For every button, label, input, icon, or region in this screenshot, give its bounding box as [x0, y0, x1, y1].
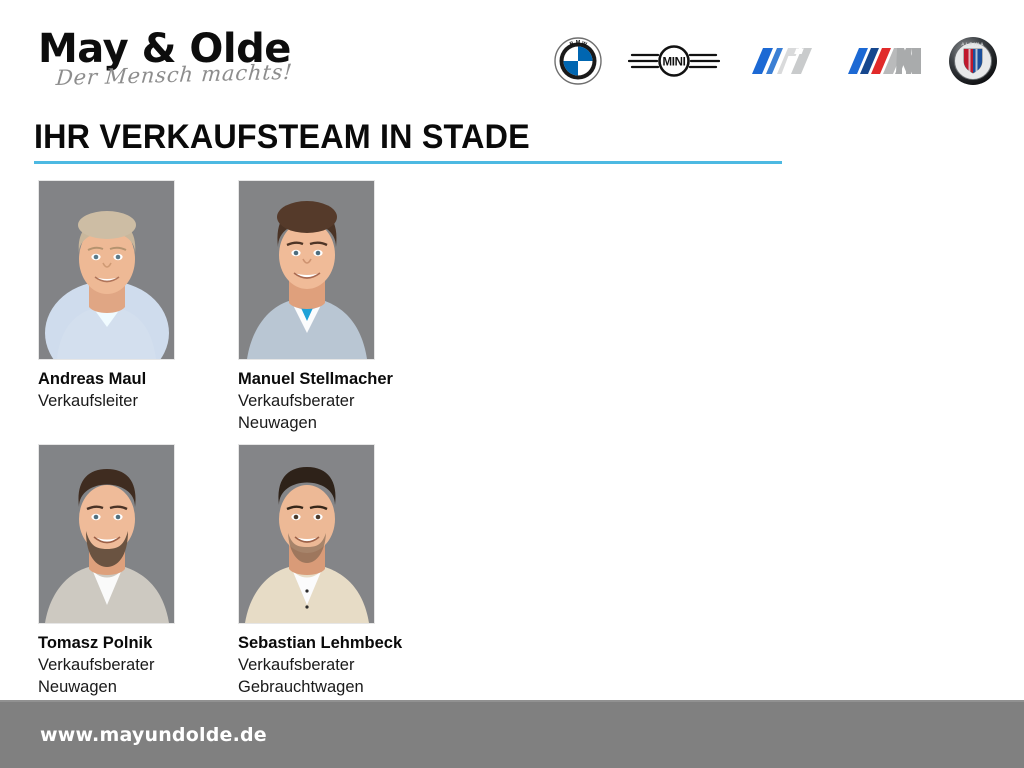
- member-role-line2: Neuwagen: [238, 412, 375, 434]
- bmw-i-icon: [746, 44, 818, 83]
- member-role-line2: Gebrauchtwagen: [238, 676, 375, 698]
- member-photo: [38, 180, 175, 360]
- svg-text:MINI: MINI: [662, 56, 685, 68]
- member-photo: [238, 444, 375, 624]
- member-name: Manuel Stellmacher: [238, 369, 375, 390]
- bmw-m-icon: [844, 44, 922, 83]
- member-name: Tomasz Polnik: [38, 633, 175, 654]
- mini-wings-icon: MINI: [628, 41, 720, 86]
- member-name: Sebastian Lehmbeck: [238, 633, 375, 654]
- team-member-card: Sebastian Lehmbeck Verkaufsberater Gebra…: [238, 444, 375, 698]
- member-role-line1: Verkaufsberater: [38, 654, 175, 676]
- member-photo: [38, 444, 175, 624]
- team-member-card: Tomasz Polnik Verkaufsberater Neuwagen: [38, 444, 175, 698]
- brand-logo-bar: B M W MINI: [554, 32, 998, 94]
- member-photo: [238, 180, 375, 360]
- alpina-roundel-icon: ALPINA: [948, 36, 998, 91]
- team-member-card: Manuel Stellmacher Verkaufsberater Neuwa…: [238, 180, 375, 434]
- page-title: IHR VERKAUFSTEAM IN STADE: [34, 118, 747, 156]
- company-logo: May & Olde Der Mensch machts!: [38, 28, 328, 90]
- footer-website-url[interactable]: www.mayundolde.de: [40, 724, 267, 746]
- member-role-line2: Neuwagen: [38, 676, 175, 698]
- team-member-card: Andreas Maul Verkaufsleiter: [38, 180, 175, 434]
- team-row: Andreas Maul Verkaufsleiter: [38, 180, 598, 434]
- svg-text:ALPINA: ALPINA: [961, 41, 985, 46]
- member-role-line1: Verkaufsleiter: [38, 390, 175, 412]
- member-name: Andreas Maul: [38, 369, 175, 390]
- bmw-roundel-icon: B M W: [554, 37, 602, 90]
- team-grid: Andreas Maul Verkaufsleiter: [38, 180, 598, 708]
- team-row: Tomasz Polnik Verkaufsberater Neuwagen: [38, 444, 598, 698]
- page-footer: www.mayundolde.de: [0, 700, 1024, 768]
- title-underline-rule: [34, 161, 782, 164]
- page-header: May & Olde Der Mensch machts! B M W: [0, 0, 1024, 110]
- member-role-line1: Verkaufsberater: [238, 654, 375, 676]
- page-title-block: IHR VERKAUFSTEAM IN STADE: [34, 118, 784, 164]
- member-role-line1: Verkaufsberater: [238, 390, 375, 412]
